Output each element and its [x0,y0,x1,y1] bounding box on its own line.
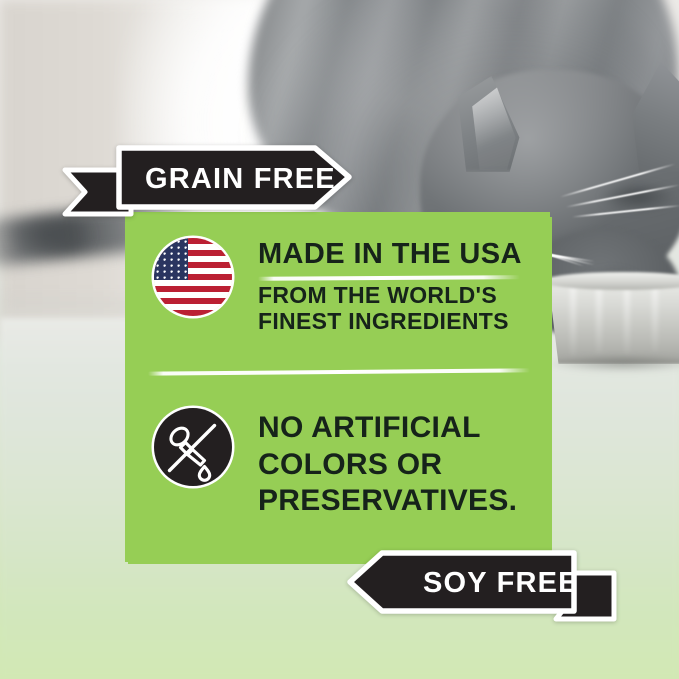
food-bowl [548,278,679,364]
cat-tail-tip [10,214,90,256]
no-dropper-icon [154,408,232,486]
claim-made-in-usa-subtitle-line-2: FINEST INGREDIENTS [258,309,522,335]
grain-free-banner-label: GRAIN FREE [145,163,336,196]
claim-made-in-usa-title: MADE IN THE USA [258,240,522,269]
claim-no-artificial-line-3: PRESERVATIVES. [258,483,517,520]
soy-free-banner-label: SOY FREE [423,567,579,600]
grain-free-banner: GRAIN FREE [63,144,353,218]
claim-no-artificial: NO ARTIFICIAL COLORS OR PRESERVATIVES. [154,408,517,520]
claim-made-in-usa-subtitle-line-1: FROM THE WORLD'S [258,283,522,309]
claim-no-artificial-text: NO ARTIFICIAL COLORS OR PRESERVATIVES. [258,408,517,520]
divider-between-claims [148,368,530,375]
claim-made-in-usa: MADE IN THE USA FROM THE WORLD'S FINEST … [154,238,522,335]
usa-flag-icon [154,238,232,316]
product-claim-image: MADE IN THE USA FROM THE WORLD'S FINEST … [0,0,679,679]
claim-made-in-usa-text: MADE IN THE USA FROM THE WORLD'S FINEST … [258,238,522,335]
claims-panel: MADE IN THE USA FROM THE WORLD'S FINEST … [128,212,550,564]
soy-free-banner: SOY FREE [346,549,616,623]
claim-no-artificial-line-2: COLORS OR [258,447,517,484]
claim-no-artificial-line-1: NO ARTIFICIAL [258,410,517,447]
